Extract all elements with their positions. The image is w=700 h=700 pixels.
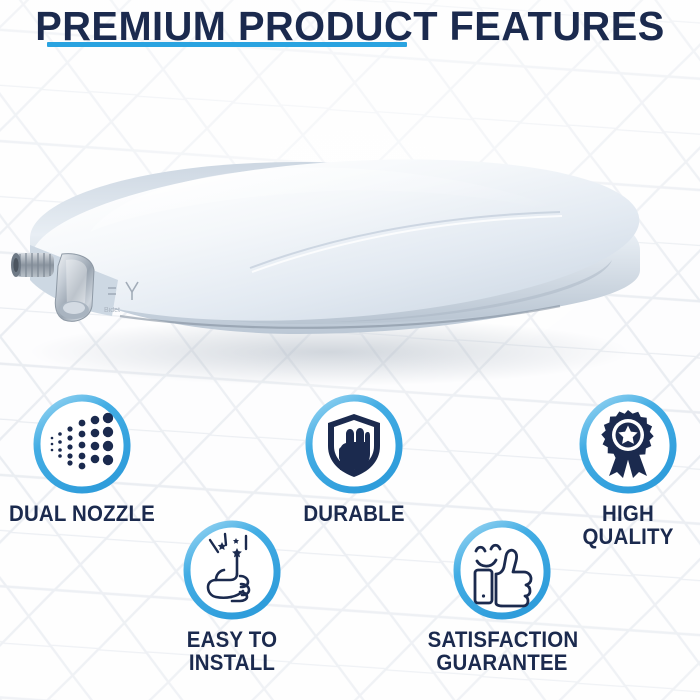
feature-badge-easy-install <box>180 518 284 622</box>
feature-label-satisfaction: SATISFACTION GUARANTEE <box>428 628 577 674</box>
feature-easy-install[interactable]: EASY TO INSTALL <box>152 518 312 674</box>
water-inlet-connector <box>11 253 54 277</box>
product-feature-graphic: PREMIUM PRODUCT FEATURES <box>0 0 700 700</box>
feature-badge-high-quality <box>576 392 680 496</box>
feature-label-dual-nozzle: DUAL NOZZLE <box>8 502 157 525</box>
feature-satisfaction[interactable]: SATISFACTION GUARANTEE <box>422 518 582 674</box>
feature-badge-dual-nozzle <box>30 392 134 496</box>
feature-badge-satisfaction <box>450 518 554 622</box>
feature-label-easy-install: EASY TO INSTALL <box>158 628 307 674</box>
page-title: PREMIUM PRODUCT FEATURES <box>11 0 690 48</box>
title-underline-accent <box>47 42 407 47</box>
feature-badge-durable <box>302 392 406 496</box>
page-title-block: PREMIUM PRODUCT FEATURES <box>0 0 700 48</box>
feature-dual-nozzle[interactable]: DUAL NOZZLE <box>2 392 162 525</box>
product-image: Bidet <box>0 120 700 385</box>
feature-durable[interactable]: DURABLE <box>274 392 434 525</box>
svg-text:Bidet: Bidet <box>104 307 120 314</box>
control-lever <box>55 254 94 322</box>
